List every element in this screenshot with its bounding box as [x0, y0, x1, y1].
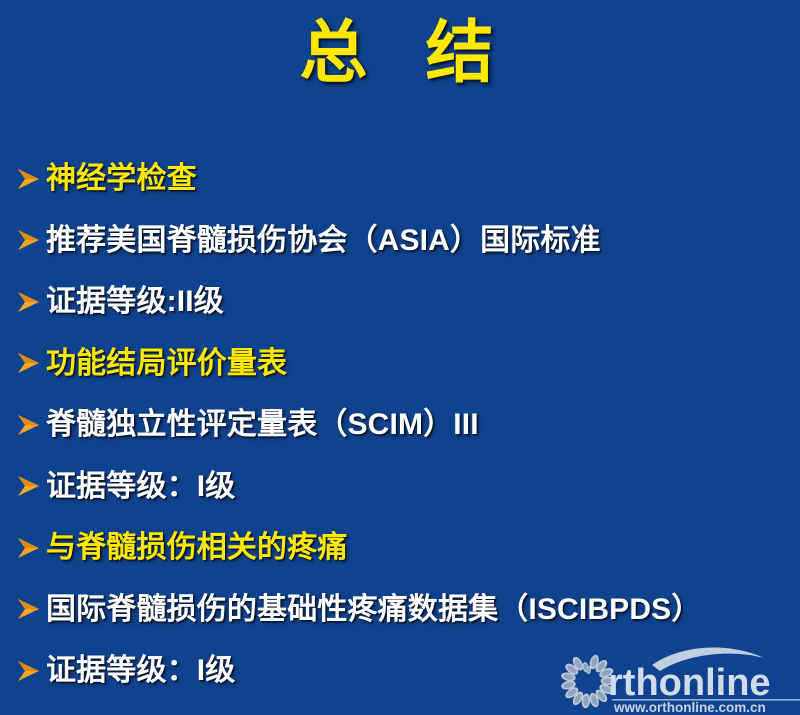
list-item-label: 神经学检查 [46, 163, 197, 195]
list-item-label: 国际脊髓损伤的基础性疼痛数据集（ISCIBPDS） [46, 594, 701, 626]
arrow-bullet-icon [14, 225, 44, 255]
arrow-bullet-icon [14, 164, 44, 194]
summary-bullet-list: 神经学检查 推荐美国脊髓损伤协会（ASIA）国际标准 证据等级:II级 功能结局… [14, 148, 800, 702]
list-item: 证据等级：I级 [14, 456, 800, 518]
list-item-label: 脊髓独立性评定量表（SCIM）III [46, 409, 479, 441]
list-item: 脊髓独立性评定量表（SCIM）III [14, 394, 800, 456]
arrow-bullet-icon [14, 348, 44, 378]
list-item-label: 证据等级:II级 [46, 286, 224, 318]
list-item-label: 证据等级：I级 [46, 471, 235, 503]
arrow-bullet-icon [14, 656, 44, 686]
arrow-bullet-icon [14, 594, 44, 624]
arrow-bullet-icon [14, 471, 44, 501]
list-item: 证据等级：I级 [14, 640, 800, 702]
watermark-url: www.orthonline.com.cn [613, 700, 766, 715]
arrow-bullet-icon [14, 533, 44, 563]
list-item-label: 证据等级：I级 [46, 655, 235, 687]
list-item: 功能结局评价量表 [14, 333, 800, 395]
list-item: 推荐美国脊髓损伤协会（ASIA）国际标准 [14, 210, 800, 272]
list-item: 国际脊髓损伤的基础性疼痛数据集（ISCIBPDS） [14, 579, 800, 641]
list-item: 与脊髓损伤相关的疼痛 [14, 517, 800, 579]
list-item-label: 功能结局评价量表 [46, 348, 287, 380]
presentation-slide: 总 结 神经学检查 推荐美国脊髓损伤协会（ASIA）国际标准 证据等级:II级 [0, 0, 800, 715]
arrow-bullet-icon [14, 410, 44, 440]
arrow-bullet-icon [14, 287, 44, 317]
page-title: 总 结 [0, 14, 800, 92]
list-item: 证据等级:II级 [14, 271, 800, 333]
list-item: 神经学检查 [14, 148, 800, 210]
list-item-label: 推荐美国脊髓损伤协会（ASIA）国际标准 [46, 225, 601, 257]
list-item-label: 与脊髓损伤相关的疼痛 [46, 532, 348, 564]
